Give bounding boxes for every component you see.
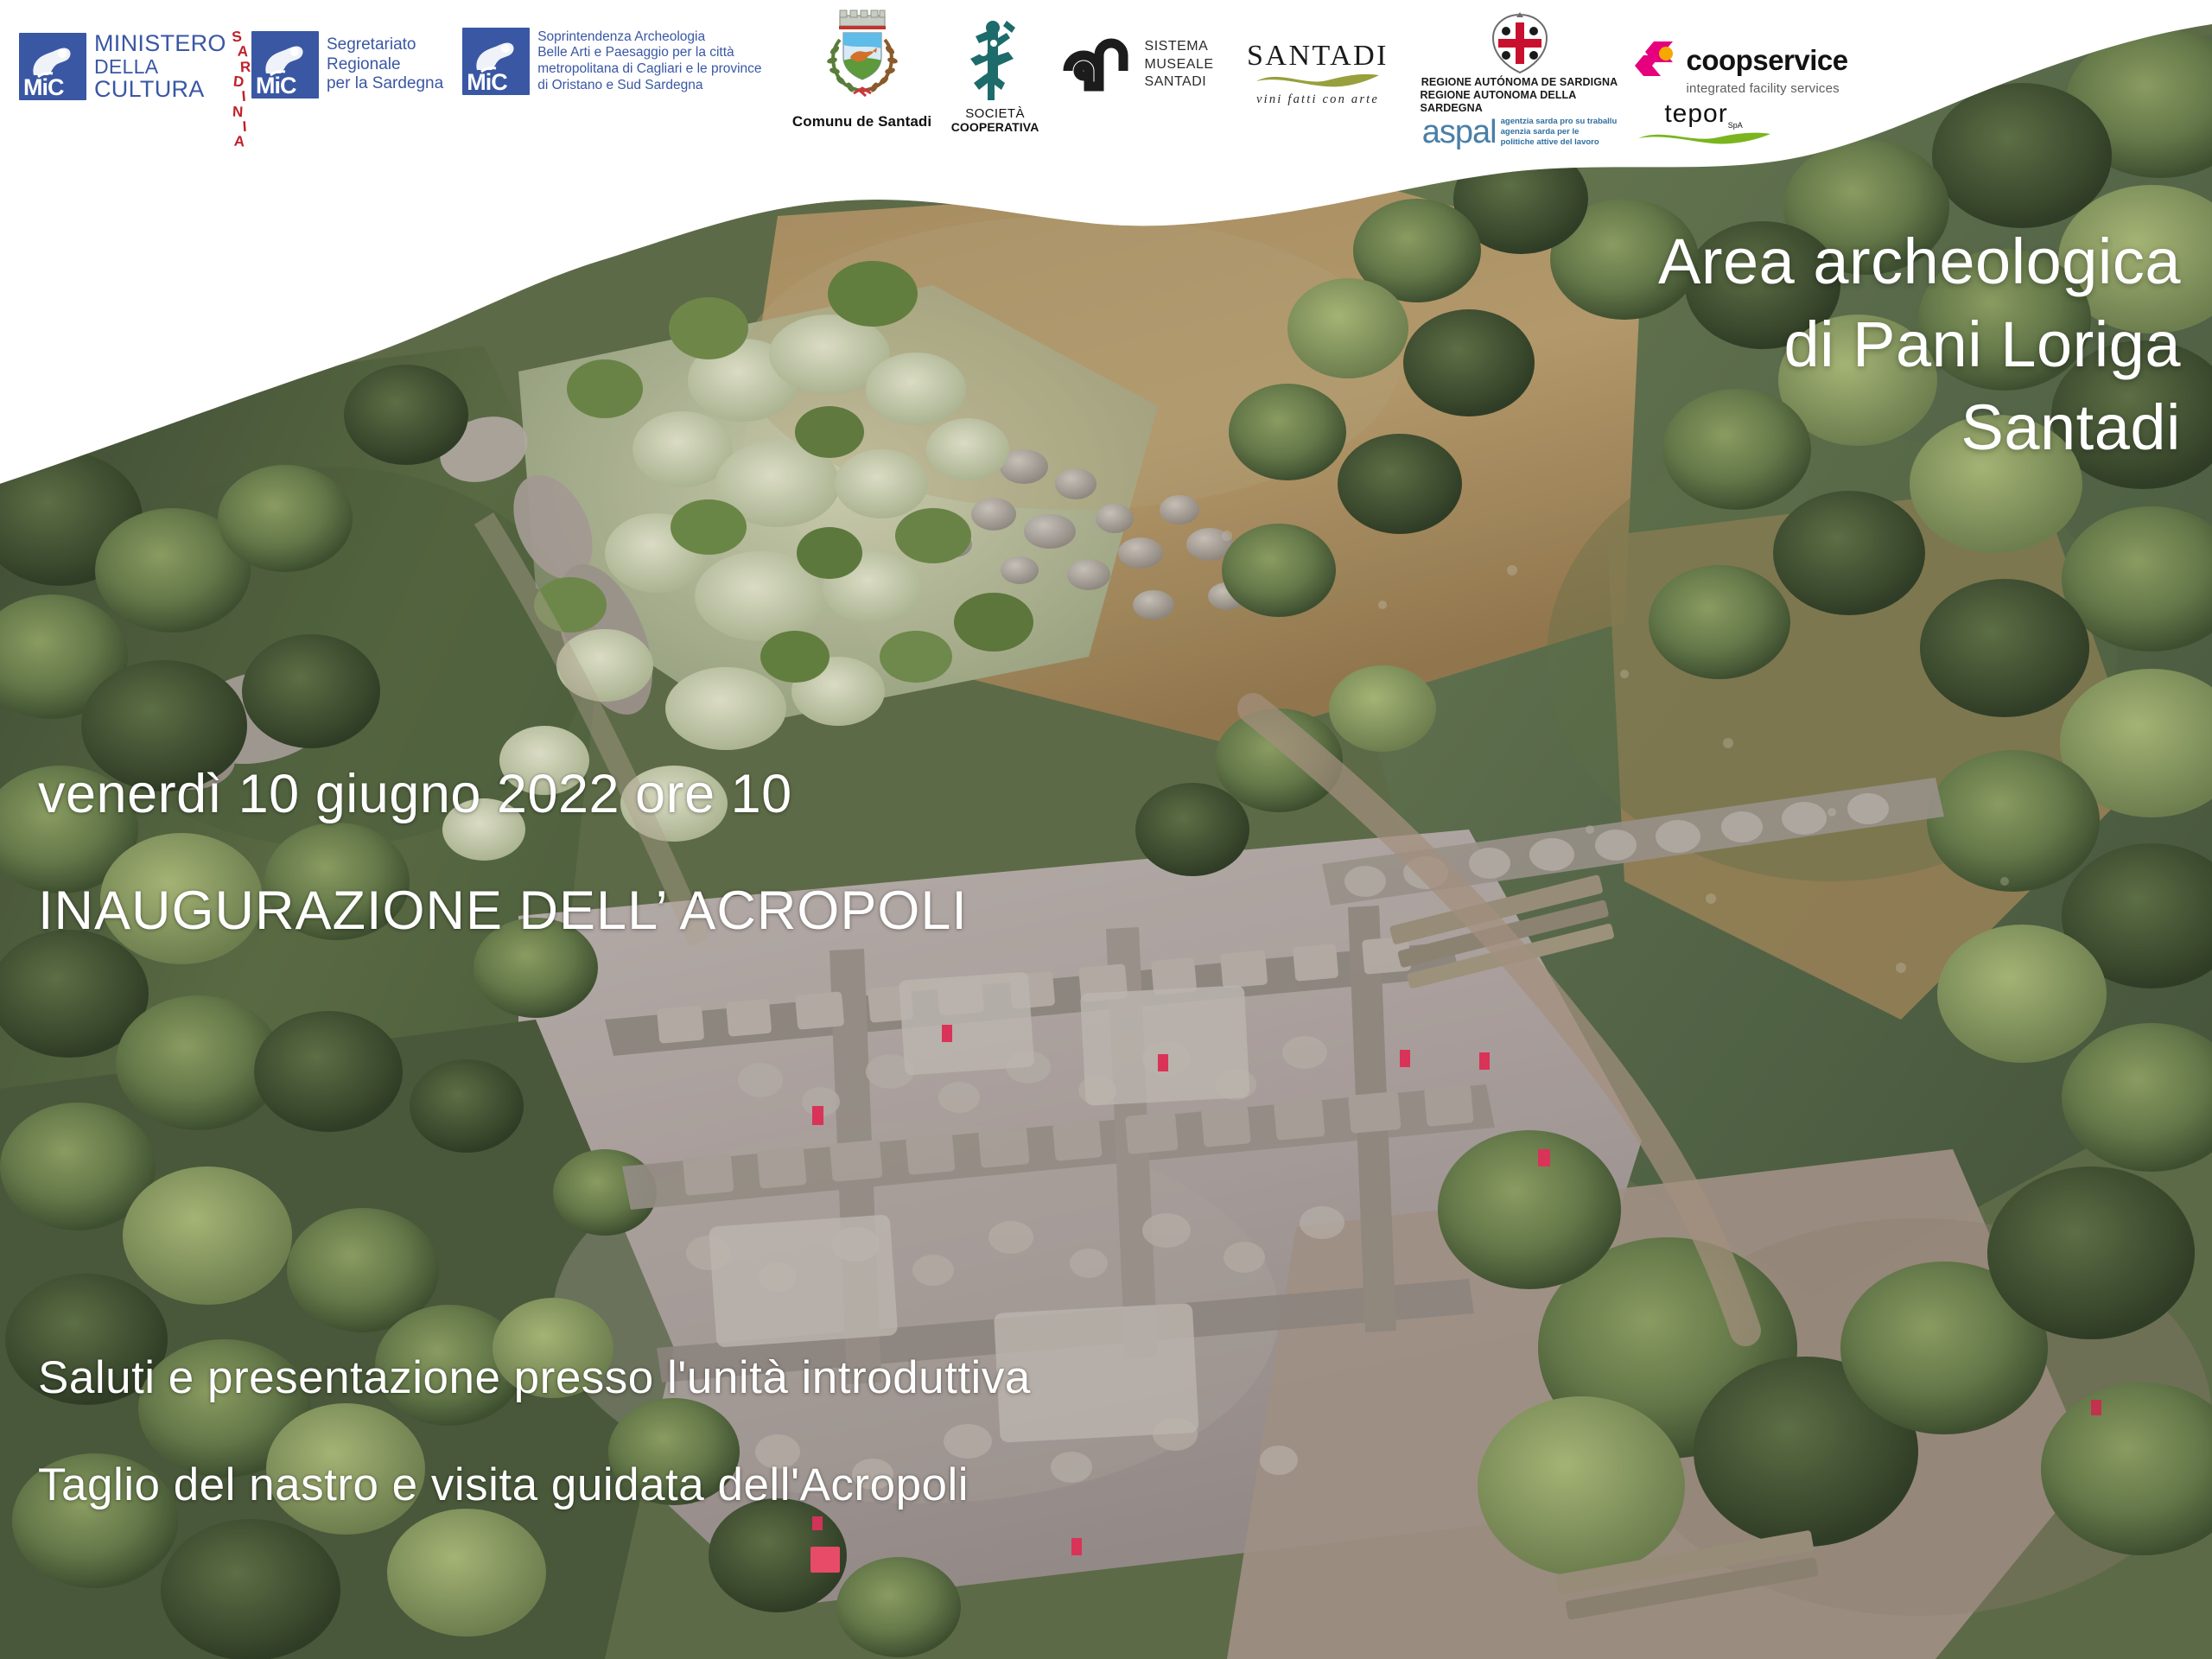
title-line-1: Area archeologica: [1658, 220, 2181, 303]
soprintendenza-line2: Belle Arti e Paesaggio per la città: [537, 45, 761, 61]
logo-ministero-della-cultura: MiC MINISTERO DELLA CULTURA: [19, 31, 226, 102]
soprintendenza-line4: di Oristano e Sud Sardegna: [537, 78, 761, 94]
coopservice-tagline: integrated facility services: [1687, 81, 1840, 96]
title-line-3: Santadi: [1658, 386, 2181, 469]
sardinia-letter-i2: I: [238, 119, 250, 135]
sardinia-letter-i: I: [238, 89, 250, 105]
logo-sardinia-vertical: S A R D I N I A: [235, 29, 245, 149]
soprintendenza-text: Soprintendenza Archeologia Belle Arti e …: [537, 29, 761, 93]
sardinia-letter-a: A: [237, 44, 248, 60]
sm-line1: SISTEMA: [1145, 38, 1214, 55]
logo-segretariato-regionale: MiC Segretariato Regionale per la Sardeg…: [251, 31, 443, 99]
ministero-line1: MINISTERO: [94, 31, 226, 56]
aspal-text: agentzia sarda pro su traballu agenzia s…: [1501, 117, 1618, 148]
program-line-1: Saluti e presentazione presso l'unità in…: [38, 1355, 1031, 1401]
mic-mark-3: MiC: [462, 28, 530, 95]
logo-coopservice-tepor-group: coopservice integrated facility services…: [1635, 40, 1848, 147]
logo-comune-santadi: Comunu de Santadi: [785, 7, 940, 130]
sistema-museale-text: SISTEMA MUSEALE SANTADI: [1145, 38, 1214, 91]
logo-cantina-santadi: SANTADI vini fatti con arte: [1238, 41, 1398, 107]
tepor-wordmark: teporSpA: [1664, 101, 1742, 130]
mic-abbrev: MiC: [256, 74, 296, 98]
coopservice-wordmark: coopservice: [1687, 46, 1848, 74]
segretariato-text: Segretariato Regionale per la Sardegna: [327, 35, 443, 93]
program-line-2: Taglio del nastro e visita guidata dell'…: [38, 1462, 969, 1508]
logo-aspal: aspal agentzia sarda pro su traballu age…: [1422, 117, 1617, 148]
aspal-line3: politiche attive del lavoro: [1501, 137, 1618, 148]
logo-soprintendenza: MiC Soprintendenza Archeologia Belle Art…: [462, 28, 761, 95]
coopservice-row: coopservice: [1635, 40, 1848, 79]
ministero-line3: CULTURA: [94, 77, 226, 102]
sm-line2: MUSEALE: [1145, 56, 1214, 73]
santadi-swoosh-icon: [1253, 71, 1382, 90]
logo-regione-aspal-group: REGIONE AUTÓNOMA DE SARDIGNA REGIONE AUT…: [1421, 12, 1619, 148]
regione-line2: REGIONE AUTONOMA DELLA SARDEGNA: [1421, 89, 1619, 115]
aspal-wordmark: aspal: [1422, 119, 1497, 145]
title-line-2: di Pani Loriga: [1658, 303, 2181, 386]
mic-mark-2: MiC: [251, 31, 319, 99]
segretariato-line2: Regionale: [327, 55, 443, 74]
event-headline: INAUGURAZIONE DELL’ ACROPOLI: [38, 884, 968, 938]
aspal-line2: agenzia sarda per le: [1501, 127, 1618, 137]
regione-sardegna-crest-icon: [1486, 12, 1554, 76]
segretariato-line3: per la Sardegna: [327, 74, 443, 93]
sm-line3: SANTADI: [1145, 73, 1214, 91]
tepor-suffix: SpA: [1728, 121, 1743, 130]
regione-line1: REGIONE AUTÓNOMA DE SARDIGNA: [1421, 76, 1618, 89]
aspal-line1: agentzia sarda pro su traballu: [1501, 117, 1618, 127]
sardinia-letter-r: R: [239, 59, 251, 74]
poster-title: Area archeologica di Pani Loriga Santadi: [1658, 220, 2181, 470]
mic-abbrev: MiC: [467, 71, 507, 94]
coop-line2: COOPERATIVA: [951, 121, 1039, 134]
sardinia-letter-n: N: [232, 104, 243, 119]
coop-line1: SOCIETÀ: [965, 107, 1025, 121]
nuragic-bronzetto-icon: [955, 17, 1036, 107]
tepor-swoosh-icon: [1635, 130, 1773, 147]
logo-societa-cooperativa: SOCIETÀ COOPERATIVA: [952, 17, 1039, 133]
soprintendenza-line3: metropolitana di Cagliari e le province: [537, 61, 761, 78]
santadi-tagline: vini fatti con arte: [1256, 92, 1379, 107]
comune-label: Comunu de Santadi: [792, 113, 931, 130]
sardinia-letter-a2: A: [233, 134, 245, 149]
ministero-line2: DELLA: [94, 56, 226, 77]
mic-mark: MiC: [19, 33, 86, 100]
logo-sistema-museale: SISTEMA MUSEALE SANTADI: [1063, 36, 1214, 93]
ministero-text: MINISTERO DELLA CULTURA: [94, 31, 226, 102]
tepor-text: tepor: [1664, 99, 1727, 128]
comune-crest-icon: [810, 7, 914, 111]
event-date-line: venerdì 10 giugno 2022 ore 10: [38, 767, 792, 822]
poster-root: MiC MINISTERO DELLA CULTURA S A R D I N …: [0, 0, 2212, 1659]
santadi-wordmark: SANTADI: [1247, 41, 1389, 71]
logo-tepor: teporSpA: [1635, 101, 1773, 147]
soprintendenza-line1: Soprintendenza Archeologia: [537, 29, 761, 46]
coopservice-mark-icon: [1635, 40, 1680, 79]
mic-abbrev: MiC: [23, 76, 64, 99]
sistema-museale-mark-icon: [1063, 36, 1134, 93]
partner-logos-row: MiC MINISTERO DELLA CULTURA S A R D I N …: [0, 0, 2212, 194]
segretariato-line1: Segretariato: [327, 35, 443, 54]
